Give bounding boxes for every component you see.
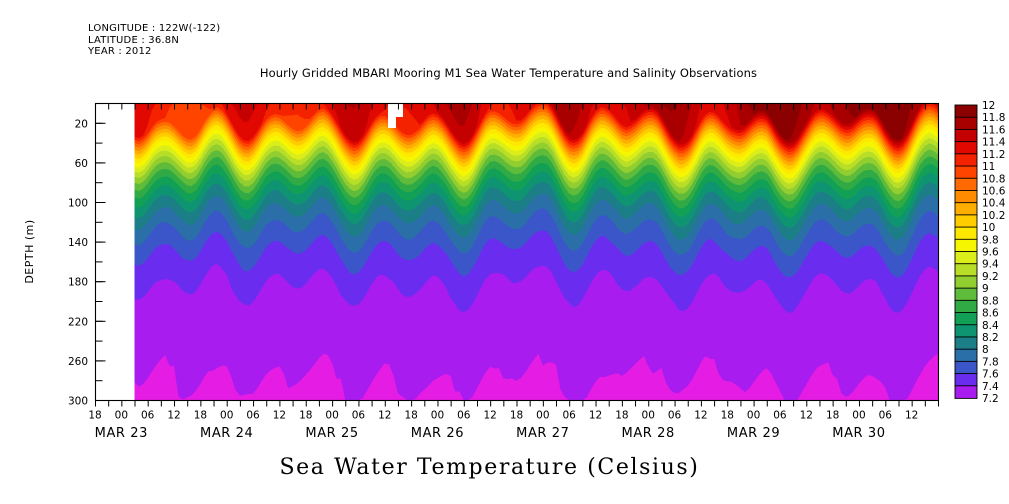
x-tick-label-day: MAR 26	[411, 426, 464, 441]
x-tick-label-hour: 18	[826, 410, 839, 422]
x-tick-label-hour: 00	[431, 410, 444, 422]
colorbar-tick-label: 10.2	[982, 210, 1005, 222]
x-tick-label-hour: 12	[378, 410, 391, 422]
x-tick-label-hour: 18	[88, 410, 101, 422]
colorbar-tick-label: 7.4	[982, 381, 999, 393]
x-tick-label-hour: 06	[668, 410, 682, 422]
colorbar-tick-label: 7.2	[982, 393, 999, 405]
x-tick-label-hour: 18	[510, 410, 523, 422]
y-tick-label: 220	[68, 316, 88, 328]
y-tick-label: 260	[68, 356, 88, 368]
y-tick-label: 60	[75, 158, 88, 170]
x-tick-label-hour: 18	[404, 410, 417, 422]
x-tick-label-hour: 00	[325, 410, 338, 422]
contour-field	[135, 103, 938, 400]
y-tick-label: 100	[68, 198, 88, 210]
x-tick-label-hour: 06	[352, 410, 366, 422]
x-tick-label-hour: 12	[800, 410, 813, 422]
colorbar-tick-label: 11.4	[982, 137, 1006, 149]
x-tick-label-hour: 00	[115, 410, 128, 422]
colorbar: 1211.811.611.411.21110.810.610.410.2109.…	[955, 100, 1006, 405]
x-tick-label-day: MAR 29	[727, 426, 780, 441]
colorbar-tick-label: 11.6	[982, 124, 1006, 136]
x-tick-label-hour: 00	[536, 410, 549, 422]
x-tick-label-hour: 00	[220, 410, 233, 422]
colorbar-tick-label: 11.8	[982, 112, 1005, 124]
colorbar-tick-label: 8.6	[982, 308, 999, 320]
y-axis-title: DEPTH (m)	[23, 219, 36, 283]
colorbar-tick-label: 8	[982, 344, 989, 356]
colorbar-tick-label: 10.6	[982, 185, 1006, 197]
colorbar-tick-label: 11.2	[982, 149, 1005, 161]
x-tick-label-hour: 06	[246, 410, 260, 422]
colorbar-tick-label: 10.4	[982, 198, 1006, 210]
x-tick-label-day: MAR 24	[200, 426, 253, 441]
x-tick-label-hour: 00	[747, 410, 760, 422]
x-tick-label-day: MAR 30	[832, 426, 885, 441]
x-tick-label-hour: 06	[457, 410, 471, 422]
x-tick-label-hour: 06	[141, 410, 155, 422]
colorbar-tick-label: 11	[982, 161, 995, 173]
x-tick-label-hour: 18	[299, 410, 312, 422]
x-tick-label-hour: 00	[852, 410, 865, 422]
x-tick-label-hour: 18	[615, 410, 628, 422]
x-tick-label-hour: 12	[694, 410, 707, 422]
y-tick-label: 180	[68, 277, 88, 289]
x-tick-label-day: MAR 25	[305, 426, 358, 441]
colorbar-tick-label: 10	[982, 222, 995, 234]
colorbar-tick-label: 9	[982, 283, 989, 295]
x-tick-label-hour: 06	[773, 410, 787, 422]
x-tick-label-hour: 12	[167, 410, 180, 422]
temperature-contour-figure: 1800061218000612180006121800061218000612…	[0, 0, 1009, 504]
x-tick-label-hour: 12	[589, 410, 602, 422]
x-tick-label-day: MAR 23	[95, 426, 148, 441]
colorbar-title: Sea Water Temperature (Celsius)	[0, 455, 1009, 480]
colorbar-tick-label: 12	[982, 100, 995, 112]
colorbar-tick-label: 7.8	[982, 356, 999, 368]
colorbar-tick-label: 8.8	[982, 295, 999, 307]
x-tick-label-hour: 18	[194, 410, 207, 422]
colorbar-tick-label: 8.2	[982, 332, 999, 344]
colorbar-tick-label: 9.2	[982, 271, 999, 283]
y-tick-label: 20	[75, 118, 88, 130]
colorbar-tick-label: 9.8	[982, 234, 999, 246]
colorbar-tick-label: 8.4	[982, 320, 999, 332]
x-tick-label-hour: 18	[721, 410, 734, 422]
colorbar-tick-label: 7.6	[982, 369, 999, 381]
x-tick-label-hour: 12	[483, 410, 496, 422]
colorbar-tick-label: 9.6	[982, 247, 999, 259]
x-tick-label-day: MAR 28	[622, 426, 675, 441]
x-tick-label-hour: 00	[642, 410, 655, 422]
colorbar-tick-label: 10.8	[982, 173, 1005, 185]
y-tick-label: 140	[68, 237, 88, 249]
x-tick-label-hour: 12	[905, 410, 918, 422]
x-tick-label-hour: 06	[563, 410, 577, 422]
y-tick-label: 300	[68, 396, 88, 408]
x-tick-label-hour: 06	[879, 410, 893, 422]
colorbar-tick-label: 9.4	[982, 259, 999, 271]
x-tick-label-hour: 12	[273, 410, 286, 422]
x-tick-label-day: MAR 27	[516, 426, 569, 441]
